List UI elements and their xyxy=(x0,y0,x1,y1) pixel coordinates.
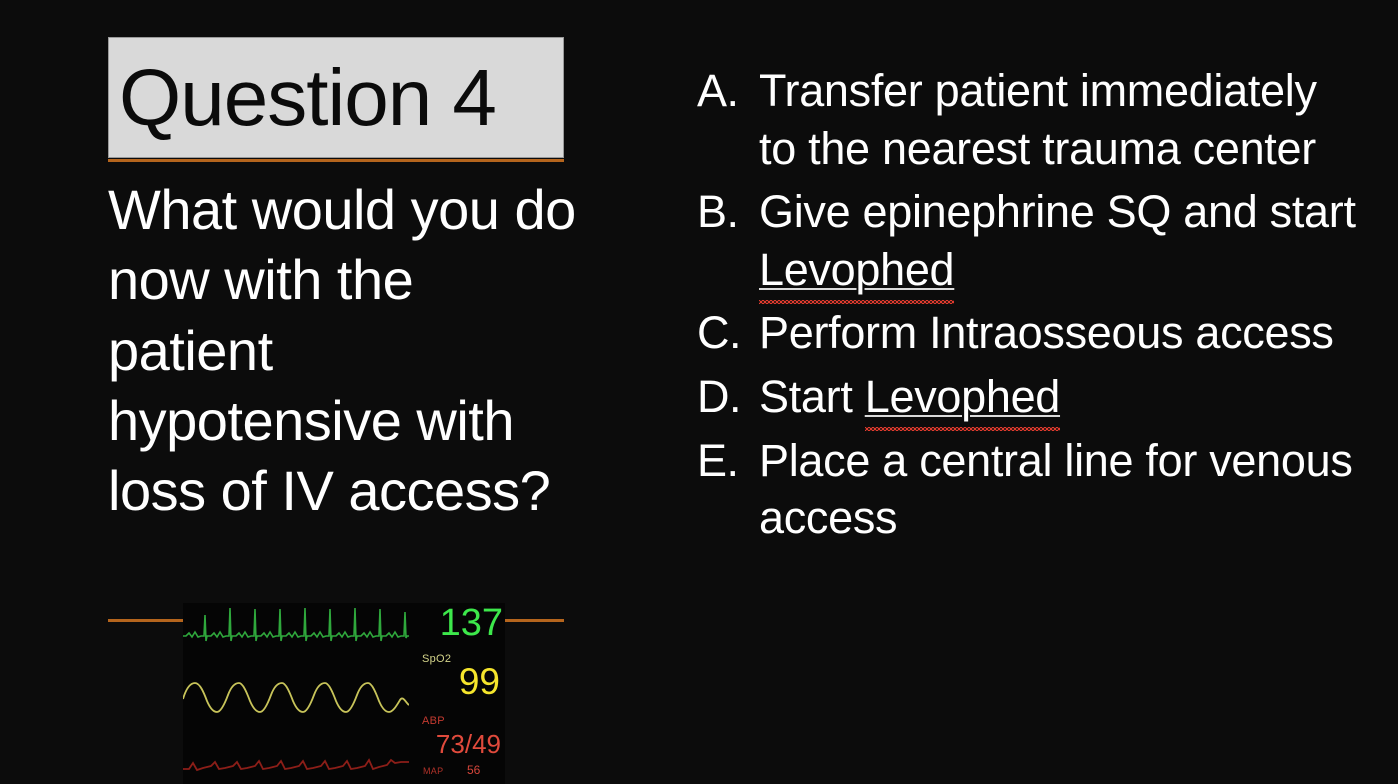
option-d-misspelled-word: Levophed xyxy=(865,371,1060,422)
option-b[interactable]: B. Give epinephrine SQ and start Levophe… xyxy=(697,183,1357,298)
option-e-text: Place a central line for venous access xyxy=(759,432,1357,547)
option-d-text: Start Levophed xyxy=(759,368,1357,426)
heart-rate-value: 137 xyxy=(440,604,503,642)
option-c-text: Perform Intraosseous access xyxy=(759,304,1357,362)
option-d-letter: D. xyxy=(697,368,759,426)
arterial-waveform xyxy=(183,760,409,770)
monitor-numeric-panel: 137 SpO2 99 ABP 73/49 MAP 56 xyxy=(405,603,505,784)
option-a[interactable]: A. Transfer patient immediately to the n… xyxy=(697,62,1357,177)
question-body: What would you do now with the patient h… xyxy=(108,175,578,526)
option-b-letter: B. xyxy=(697,183,759,241)
abp-label: ABP xyxy=(422,715,445,727)
page-title: Question 4 xyxy=(109,58,496,138)
option-c-text-before: Perform Intraosseous access xyxy=(759,307,1334,358)
option-a-text-before: Transfer patient immediately to the near… xyxy=(759,65,1317,174)
option-e[interactable]: E. Place a central line for venous acces… xyxy=(697,432,1357,547)
divider-top xyxy=(108,159,564,162)
map-label: MAP xyxy=(423,766,443,776)
patient-monitor-image: 137 SpO2 99 ABP 73/49 MAP 56 xyxy=(183,603,505,784)
monitor-waveforms xyxy=(183,603,409,784)
option-d-text-before: Start xyxy=(759,371,865,422)
spo2-value: 99 xyxy=(459,663,500,700)
option-c-letter: C. xyxy=(697,304,759,362)
abp-value: 73/49 xyxy=(436,731,501,757)
question-text: What would you do now with the patient h… xyxy=(108,175,578,526)
option-a-text: Transfer patient immediately to the near… xyxy=(759,62,1357,177)
option-b-text-before: Give epinephrine SQ and start xyxy=(759,186,1356,237)
question-title-box: Question 4 xyxy=(108,37,564,158)
option-e-letter: E. xyxy=(697,432,759,490)
spo2-label: SpO2 xyxy=(422,653,451,665)
answer-options-list: A. Transfer patient immediately to the n… xyxy=(697,62,1357,553)
ecg-waveform xyxy=(183,608,409,641)
map-value: 56 xyxy=(467,764,480,776)
option-e-text-before: Place a central line for venous access xyxy=(759,435,1353,544)
option-d[interactable]: D. Start Levophed xyxy=(697,368,1357,426)
option-b-misspelled-word: Levophed xyxy=(759,244,954,295)
option-b-text: Give epinephrine SQ and start Levophed xyxy=(759,183,1357,298)
pleth-waveform xyxy=(183,683,409,712)
slide-root: Question 4 What would you do now with th… xyxy=(0,0,1398,784)
option-c[interactable]: C. Perform Intraosseous access xyxy=(697,304,1357,362)
option-a-letter: A. xyxy=(697,62,759,120)
